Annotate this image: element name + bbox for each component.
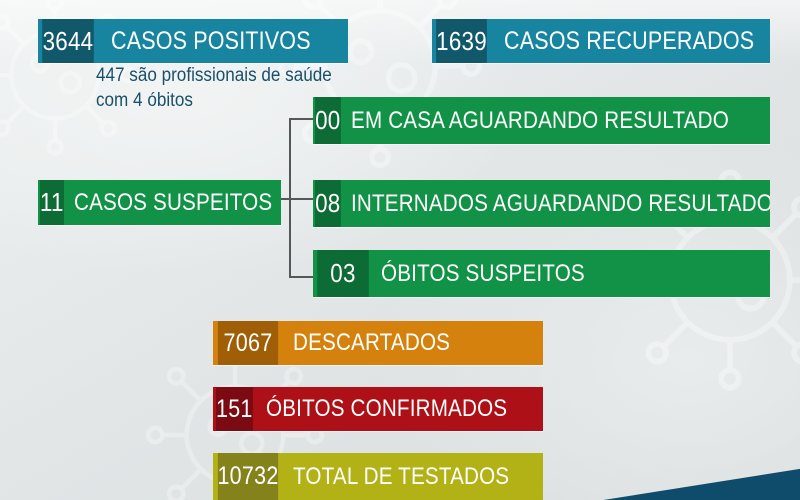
connector-stub-bottom [289, 276, 315, 278]
stat-value-obitos-confirmados: 151 [216, 387, 253, 431]
stat-bar-descartados: 7067 DESCARTADOS [213, 321, 543, 365]
stat-value-casos-positivos: 3644 [42, 19, 94, 63]
stat-bar-em-casa-aguardando-resultado: 00 EM CASA AGUARDANDO RESULTADO [313, 97, 770, 144]
infographic-content: 3644 CASOS POSITIVOS 1639 CASOS RECUPERA… [0, 0, 800, 500]
stat-bar-obitos-confirmados: 151 ÓBITOS CONFIRMADOS [213, 387, 543, 431]
stat-value-internados: 08 [315, 180, 340, 227]
stat-label-internados: INTERNADOS AGUARDANDO RESULTADO [351, 190, 770, 218]
stat-value-casos-suspeitos: 11 [40, 180, 64, 225]
stat-label-obitos-suspeitos: ÓBITOS SUSPEITOS [381, 260, 585, 288]
connector-stub-middle [281, 198, 315, 200]
stat-label-casos-suspeitos: CASOS SUSPEITOS [74, 189, 272, 217]
branch-connector-bracket [281, 104, 315, 272]
stat-bar-internados-aguardando-resultado: 08 INTERNADOS AGUARDANDO RESULTADO [313, 180, 770, 227]
connector-stub-top [289, 118, 315, 120]
stat-label-casos-recuperados: CASOS RECUPERADOS [504, 27, 754, 56]
stat-bar-total-de-testados: 10732 TOTAL DE TESTADOS [213, 453, 543, 500]
stat-value-descartados: 7067 [218, 321, 278, 365]
stat-bar-casos-positivos: 3644 CASOS POSITIVOS [38, 19, 348, 63]
stat-value-em-casa: 00 [315, 97, 340, 144]
stat-value-casos-recuperados: 1639 [436, 19, 487, 63]
stat-value-total-testados: 10732 [218, 453, 278, 500]
stat-label-em-casa: EM CASA AGUARDANDO RESULTADO [351, 107, 729, 135]
stat-value-obitos-suspeitos: 03 [317, 250, 369, 297]
stat-bar-casos-suspeitos: 11 CASOS SUSPEITOS [38, 180, 281, 225]
stat-bar-obitos-suspeitos: 03 ÓBITOS SUSPEITOS [313, 250, 770, 297]
subtitle-line-1: 447 são profissionais de saúde [96, 63, 332, 88]
stat-label-obitos-confirmados: ÓBITOS CONFIRMADOS [266, 395, 507, 423]
stat-label-casos-positivos: CASOS POSITIVOS [111, 27, 311, 56]
stat-label-total-testados: TOTAL DE TESTADOS [293, 463, 509, 491]
stat-bar-casos-recuperados: 1639 CASOS RECUPERADOS [432, 19, 770, 63]
stat-label-descartados: DESCARTADOS [293, 329, 450, 357]
